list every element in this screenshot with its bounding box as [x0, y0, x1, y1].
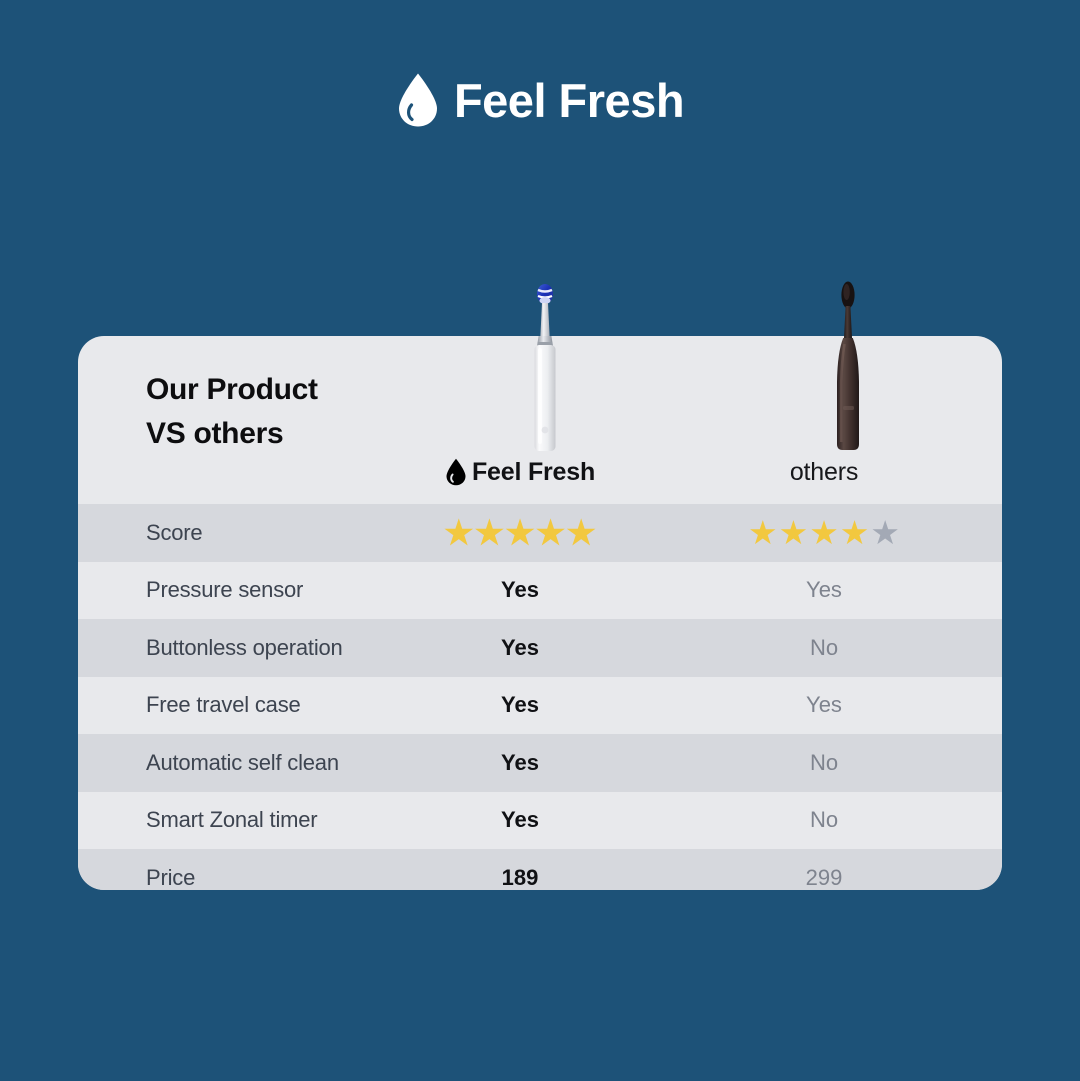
- star-icon: ★: [505, 516, 535, 549]
- title-line-1: Our Product: [146, 368, 318, 412]
- product-image-feel-fresh: [505, 278, 585, 454]
- row-value-feel-fresh: 189: [394, 865, 646, 890]
- row-value-others: Yes: [698, 577, 950, 603]
- star-icon: ★: [748, 516, 778, 549]
- star-icon: ★: [809, 516, 839, 549]
- column-header-label: Feel Fresh: [472, 458, 595, 487]
- brand-header: Feel Fresh: [0, 0, 1080, 200]
- row-label: Buttonless operation: [146, 635, 396, 661]
- row-label: Price: [146, 865, 396, 890]
- table-row: Pressure sensor Yes Yes: [78, 562, 1002, 620]
- column-header-others: others: [698, 452, 950, 492]
- star-icon-empty: ★: [870, 516, 900, 549]
- row-label: Pressure sensor: [146, 577, 396, 603]
- row-value-feel-fresh: Yes: [394, 635, 646, 661]
- product-image-others: [808, 278, 888, 454]
- row-value-others: Yes: [698, 692, 950, 718]
- star-rating-others: ★ ★ ★ ★ ★: [698, 516, 950, 549]
- table-row: Free travel case Yes Yes: [78, 677, 1002, 735]
- row-value-others: ★ ★ ★ ★ ★: [698, 516, 950, 549]
- star-icon: ★: [840, 516, 870, 549]
- row-label: Score: [146, 520, 396, 546]
- row-value-feel-fresh: Yes: [394, 577, 646, 603]
- table-row: Buttonless operation Yes No: [78, 619, 1002, 677]
- star-icon: ★: [536, 516, 566, 549]
- water-drop-icon: [396, 72, 440, 128]
- row-value-others: No: [698, 635, 950, 661]
- row-value-feel-fresh: Yes: [394, 692, 646, 718]
- title-line-2: VS others: [146, 412, 318, 456]
- table-row: Price 189 299: [78, 849, 1002, 890]
- page-title: Our Product VS others: [146, 368, 318, 455]
- table-row: Automatic self clean Yes No: [78, 734, 1002, 792]
- row-label: Free travel case: [146, 692, 396, 718]
- column-header-label: others: [790, 458, 858, 487]
- star-rating-feel-fresh: ★ ★ ★ ★ ★: [394, 516, 646, 549]
- row-label: Automatic self clean: [146, 750, 396, 776]
- brand-name: Feel Fresh: [454, 77, 684, 124]
- star-icon: ★: [779, 516, 809, 549]
- star-icon: ★: [475, 516, 505, 549]
- row-value-feel-fresh: Yes: [394, 807, 646, 833]
- row-value-others: 299: [698, 865, 950, 890]
- table-row: Smart Zonal timer Yes No: [78, 792, 1002, 850]
- row-value-others: No: [698, 750, 950, 776]
- column-header-feel-fresh: Feel Fresh: [394, 452, 646, 492]
- table-row: Score ★ ★ ★ ★ ★ ★ ★ ★ ★ ★: [78, 504, 1002, 562]
- row-label: Smart Zonal timer: [146, 807, 396, 833]
- row-value-others: No: [698, 807, 950, 833]
- row-value-feel-fresh: Yes: [394, 750, 646, 776]
- star-icon: ★: [444, 516, 474, 549]
- star-icon: ★: [566, 516, 596, 549]
- comparison-rows: Score ★ ★ ★ ★ ★ ★ ★ ★ ★ ★: [78, 504, 1002, 890]
- water-drop-icon: [445, 458, 467, 486]
- row-value-feel-fresh: ★ ★ ★ ★ ★: [394, 516, 646, 549]
